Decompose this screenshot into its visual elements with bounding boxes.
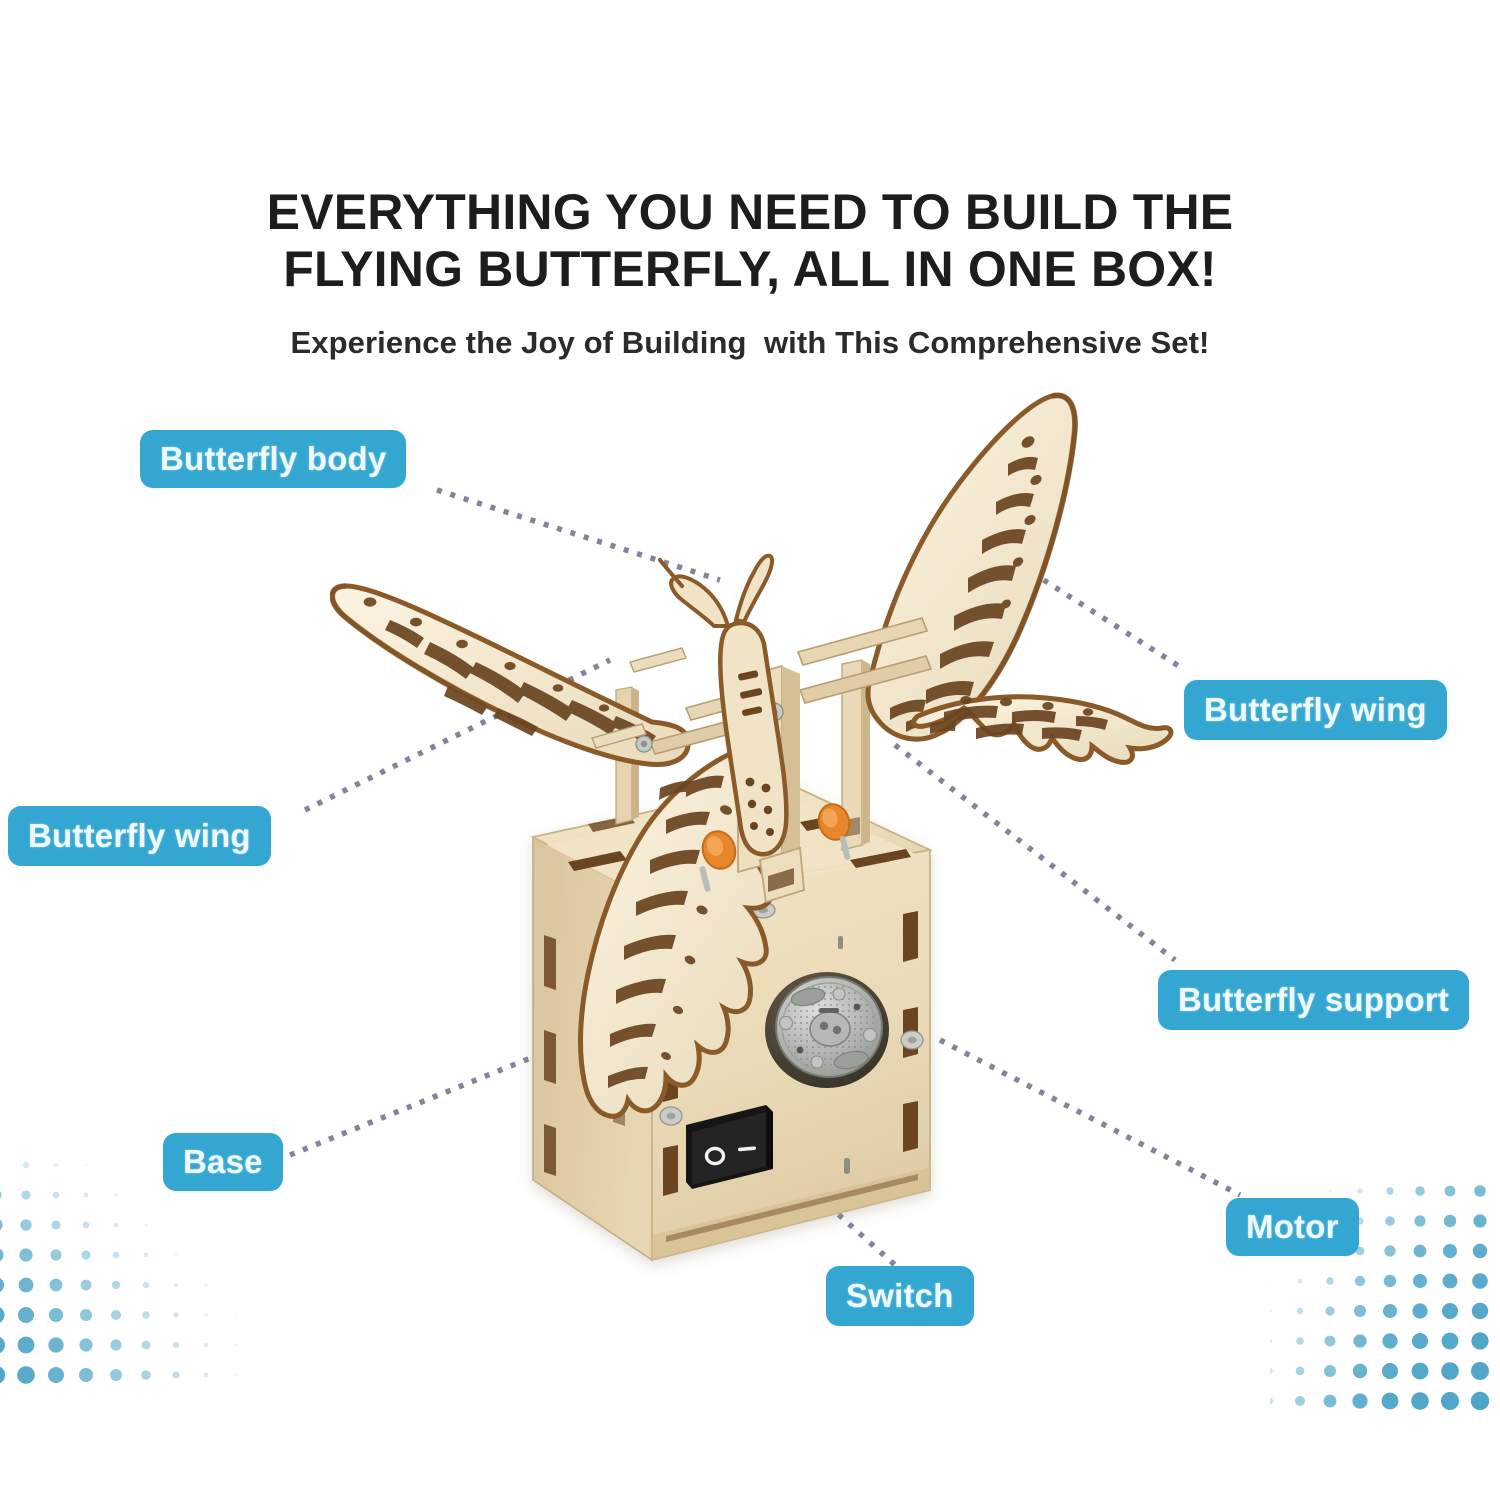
callout-butterfly-body-label: Butterfly body — [160, 440, 386, 478]
callout-switch[interactable]: Switch — [826, 1266, 974, 1326]
callout-butterfly-support[interactable]: Butterfly support — [1158, 970, 1469, 1030]
callout-motor-label: Motor — [1246, 1208, 1339, 1246]
page-title: EVERYTHING YOU NEED TO BUILD THE FLYING … — [0, 184, 1500, 298]
callout-butterfly-wing-left[interactable]: Butterfly wing — [8, 806, 271, 866]
infographic-canvas: EVERYTHING YOU NEED TO BUILD THE FLYING … — [0, 0, 1500, 1500]
callout-butterfly-wing-right-label: Butterfly wing — [1204, 691, 1427, 729]
callout-base-label: Base — [183, 1143, 263, 1181]
motor-component — [765, 972, 889, 1088]
butterfly-wing-upper-right — [868, 395, 1075, 739]
callout-base[interactable]: Base — [163, 1133, 283, 1191]
butterfly-wing-lower-right — [914, 696, 1171, 762]
product-image-wooden-flying-butterfly — [330, 390, 1180, 1300]
page-title-line-1: EVERYTHING YOU NEED TO BUILD THE — [0, 184, 1500, 241]
callout-switch-label: Switch — [846, 1277, 954, 1315]
callout-butterfly-wing-left-label: Butterfly wing — [28, 817, 251, 855]
page-title-line-2: FLYING BUTTERFLY, ALL IN ONE BOX! — [0, 241, 1500, 298]
callout-butterfly-body[interactable]: Butterfly body — [140, 430, 406, 488]
callout-motor[interactable]: Motor — [1226, 1198, 1359, 1256]
callout-butterfly-wing-right[interactable]: Butterfly wing — [1184, 680, 1447, 740]
callout-butterfly-support-label: Butterfly support — [1178, 981, 1449, 1019]
page-subtitle: Experience the Joy of Building with This… — [0, 325, 1500, 361]
halftone-decoration-bottom-left — [0, 1155, 320, 1405]
